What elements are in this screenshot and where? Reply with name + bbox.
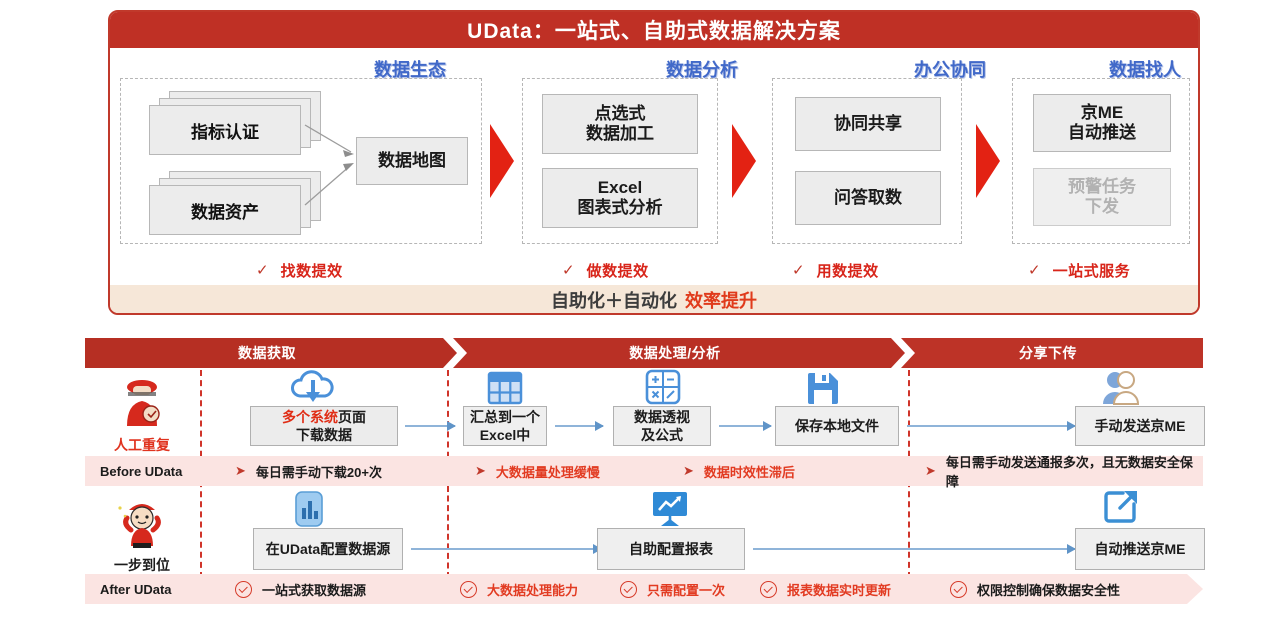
node-point-and-click-processing[interactable]: 点选式 数据加工 (542, 94, 698, 154)
strip-item: ➤ 大数据量处理缓慢 (475, 462, 600, 481)
band-label: 分享下传 (1019, 343, 1077, 363)
check-circle-icon (620, 581, 637, 598)
arrow-r1-2 (555, 425, 603, 427)
node-accent-text: 多个系统 (282, 409, 338, 425)
arrow-bullet-icon: ➤ (683, 463, 694, 479)
check-circle-icon (460, 581, 477, 598)
node-collaborative-share[interactable]: 协同共享 (795, 97, 941, 151)
node-line-2: 下载数据 (296, 426, 352, 444)
node-download-from-multiple-systems[interactable]: 多个系统页面 下载数据 (250, 406, 398, 446)
node-line-2: 及公式 (641, 426, 683, 444)
node-jingme-auto-push[interactable]: 京ME 自动推送 (1033, 94, 1171, 152)
check-icon: ✓ (1028, 261, 1041, 279)
strip-item-label: 只需配置一次 (647, 580, 725, 599)
check-circle-icon (760, 581, 777, 598)
node-line: 自动推送 (1068, 123, 1136, 143)
node-line-1: 数据透视 (634, 408, 690, 426)
node-line: 京ME (1081, 103, 1124, 123)
node-line: Excel (598, 178, 642, 198)
node-line: 数据加工 (586, 124, 654, 144)
banner-accent-text: 效率提升 (685, 287, 757, 313)
happy-child-red-cap-icon (87, 496, 197, 548)
persona-one-step: 一步到位 (87, 496, 197, 575)
presentation-trend-icon (650, 488, 690, 528)
stage-chevron-3-icon (974, 122, 1002, 200)
arrow-r2-1 (411, 548, 601, 550)
strip-before-udata: Before UData ➤ 每日需手动下载20+次 ➤ 大数据量处理缓慢 ➤ … (85, 456, 1203, 486)
node-save-local-file[interactable]: 保存本地文件 (775, 406, 899, 446)
strip-item: 大数据处理能力 (460, 580, 578, 599)
panel-data-ecology: 指标认证 数据资产 数据地图 (120, 78, 482, 244)
strip-item-label: 报表数据实时更新 (787, 580, 891, 599)
check-circle-icon (950, 581, 967, 598)
node-pivot-and-formula[interactable]: 数据透视 及公式 (613, 406, 711, 446)
panel-data-analysis: 点选式 数据加工 Excel 图表式分析 (522, 78, 718, 244)
node-qa-data-fetch[interactable]: 问答取数 (795, 171, 941, 225)
node-line: 预警任务 (1068, 177, 1136, 197)
solution-overview-card: UData：一站式、自助式数据解决方案 数据生态 数据分析 办公协同 数据找人 … (108, 10, 1200, 315)
node-auto-push-jingme[interactable]: 自动推送京ME (1075, 528, 1205, 570)
strip-label: After UData (100, 582, 172, 597)
benefit-use-data: ✓ 用数提效 (792, 258, 879, 282)
benefit-label: 一站式服务 (1053, 260, 1131, 281)
divider-stage-1 (447, 370, 449, 468)
node-manual-send-jingme[interactable]: 手动发送京ME (1075, 406, 1205, 446)
external-link-icon (1103, 488, 1141, 526)
band-label: 数据处理/分析 (629, 343, 720, 363)
cloud-download-icon (290, 370, 336, 406)
check-icon: ✓ (562, 261, 575, 279)
arrow-r1-4 (907, 425, 1075, 427)
spreadsheet-grid-icon (487, 371, 523, 405)
node-rest-text: 页面 (338, 409, 366, 425)
node-data-map[interactable]: 数据地图 (356, 137, 468, 185)
strip-item: 一站式获取数据源 (235, 580, 366, 599)
benefit-label: 找数提效 (281, 260, 343, 281)
node-line-1: 多个系统页面 (282, 408, 366, 426)
strip-item-label: 大数据处理能力 (487, 580, 578, 599)
strip-item: ➤ 每日需手动下载20+次 (235, 462, 382, 481)
strip-item: 只需配置一次 (620, 580, 725, 599)
node-line: 下发 (1085, 197, 1119, 217)
worker-red-cap-icon (87, 376, 197, 428)
band-label: 数据获取 (238, 343, 296, 363)
node-line-2: Excel中 (480, 426, 531, 444)
divider-stage-1b (447, 486, 449, 578)
calculator-icon (645, 369, 681, 405)
slide-canvas: UData：一站式、自助式数据解决方案 数据生态 数据分析 办公协同 数据找人 … (0, 0, 1280, 627)
strip-item-label: 每日需手动下载20+次 (256, 462, 382, 481)
strip-item: 权限控制确保数据安全性 (950, 580, 1120, 599)
stage-chevron-1-icon (488, 122, 516, 200)
persona-label: 人工重复 (87, 435, 197, 455)
card-title: UData：一站式、自助式数据解决方案 (110, 12, 1198, 48)
benefit-make-data: ✓ 做数提效 (562, 258, 649, 282)
node-consolidate-into-one-excel[interactable]: 汇总到一个 Excel中 (463, 406, 547, 446)
two-people-icon (1100, 368, 1142, 406)
band-share-upload: 分享下传 (901, 338, 1203, 368)
benefit-find-data: ✓ 找数提效 (256, 258, 343, 282)
benefit-label: 用数提效 (817, 260, 879, 281)
band-data-acquisition: 数据获取 (85, 338, 457, 368)
node-configure-datasource-in-udata[interactable]: 在UData配置数据源 (253, 528, 403, 570)
stage-chevron-2-icon (730, 122, 758, 200)
persona-manual-repeat: 人工重复 (87, 376, 197, 455)
node-line: 点选式 (595, 104, 646, 124)
arrow-bullet-icon: ➤ (925, 463, 936, 479)
node-line-1: 汇总到一个 (470, 408, 540, 426)
banner-main-text: 自助化＋自动化 (551, 287, 677, 313)
floppy-save-icon (805, 369, 841, 405)
panel-data-to-people: 京ME 自动推送 预警任务 下发 (1012, 78, 1190, 244)
node-self-service-report[interactable]: 自助配置报表 (597, 528, 745, 570)
strip-item-label: 数据时效性滞后 (704, 462, 795, 481)
band-data-processing: 数据处理/分析 (453, 338, 905, 368)
check-icon: ✓ (792, 261, 805, 279)
benefit-one-stop: ✓ 一站式服务 (1028, 258, 1130, 282)
strip-item-label: 权限控制确保数据安全性 (977, 580, 1120, 599)
strip-item-label: 大数据量处理缓慢 (496, 462, 600, 481)
strip-after-udata: After UData 一站式获取数据源 大数据处理能力 只需配置一次 报表数据… (85, 574, 1203, 604)
strip-item: ➤ 数据时效性滞后 (683, 462, 795, 481)
arrow-bullet-icon: ➤ (235, 463, 246, 479)
strip-item: 报表数据实时更新 (760, 580, 891, 599)
check-icon: ✓ (256, 261, 269, 279)
check-circle-icon (235, 581, 252, 598)
strip-label: Before UData (100, 464, 182, 479)
before-after-flow: 数据获取 数据处理/分析 分享下传 人工重复 (85, 338, 1203, 608)
node-alert-task-dispatch[interactable]: 预警任务 下发 (1033, 168, 1171, 226)
arrow-r1-3 (719, 425, 771, 427)
strip-item-label: 每日需手动发送通报多次，且无数据安全保障 (946, 452, 1203, 490)
bar-chart-tile-icon (293, 490, 325, 528)
arrow-bullet-icon: ➤ (475, 463, 486, 479)
arrow-r1-1 (405, 425, 455, 427)
node-line: 图表式分析 (578, 198, 663, 218)
panel-office-collaboration: 协同共享 问答取数 (772, 78, 962, 244)
strip-item-label: 一站式获取数据源 (262, 580, 366, 599)
efficiency-banner: 自助化＋自动化 效率提升 (110, 285, 1198, 315)
strip-item: ➤ 每日需手动发送通报多次，且无数据安全保障 (925, 452, 1203, 490)
persona-label: 一步到位 (87, 555, 197, 575)
node-excel-chart-analysis[interactable]: Excel 图表式分析 (542, 168, 698, 228)
benefit-label: 做数提效 (587, 260, 649, 281)
arrow-r2-2 (753, 548, 1075, 550)
